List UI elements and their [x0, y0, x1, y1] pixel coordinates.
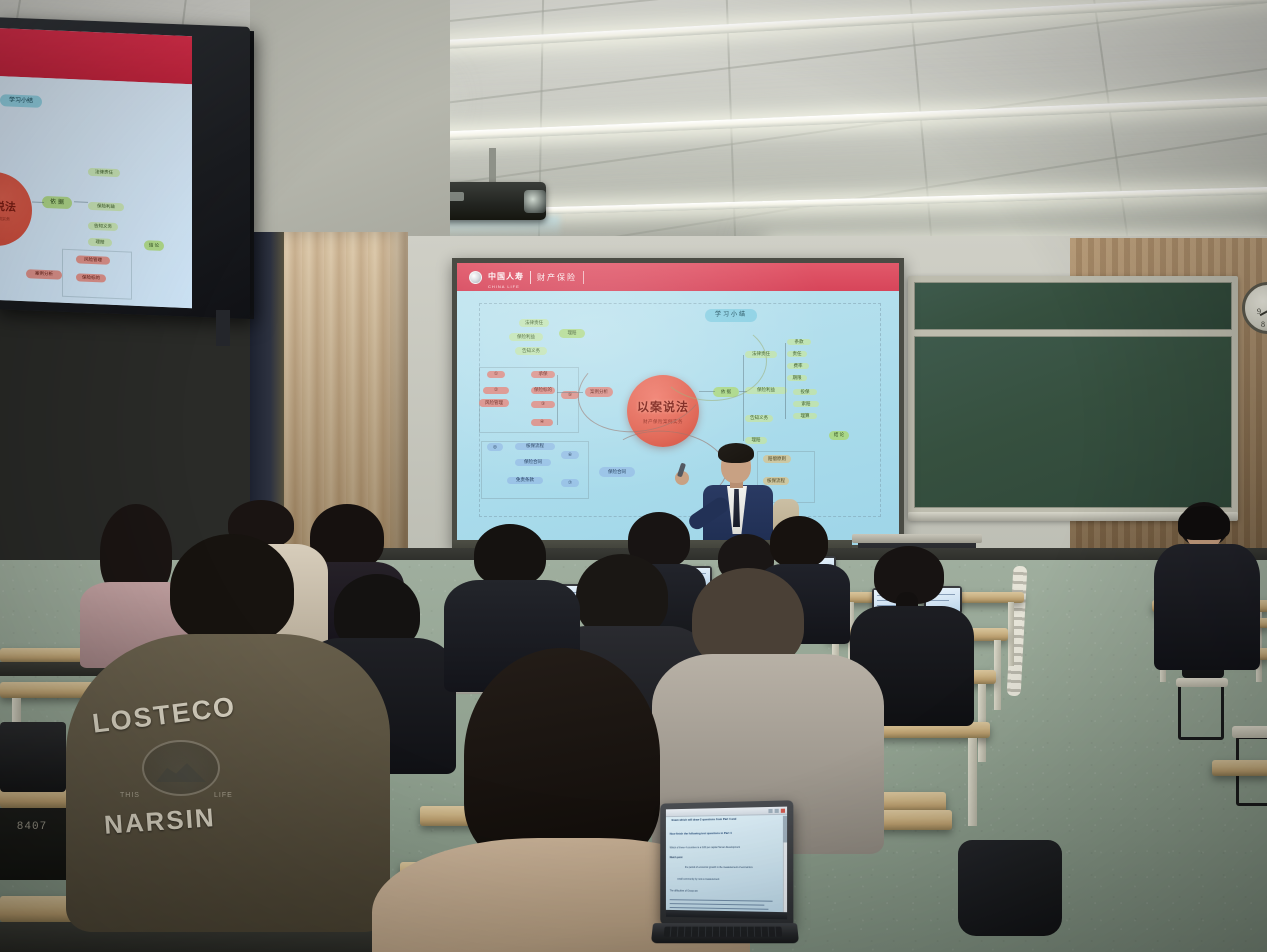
hair-back: [1178, 506, 1230, 540]
presenter-hair: [718, 443, 754, 463]
left-wall-upper: [250, 0, 450, 240]
branch-tag-17: ⑥: [561, 451, 579, 459]
branch-tag-8: 风险管理: [479, 399, 509, 407]
document-content[interactable]: Exam which will draw 2 questions from Pa…: [670, 817, 779, 909]
branch-tag-7: 保险标的: [531, 387, 555, 394]
close-icon[interactable]: [781, 809, 785, 813]
branch-leaf-1: 责任: [787, 351, 807, 357]
scrollbar-thumb[interactable]: [783, 816, 787, 843]
desk-leg: [968, 738, 977, 826]
doc-line-1: Match point: [670, 856, 683, 859]
chalkboard-main-panel: [914, 336, 1232, 508]
branch-tag-13: ◎: [487, 443, 503, 451]
branch-tag-3: 理赔: [559, 329, 585, 338]
jacket-mini-right: LIFE: [214, 792, 233, 799]
minimize-icon[interactable]: [768, 809, 772, 813]
logo-divider-2: [583, 271, 584, 284]
branch-leaf-6: 理算: [793, 413, 817, 419]
doc-line-0: Which of these 4 countries is a G20 per …: [670, 846, 740, 849]
doc-line-3: small community by now a measurement: [677, 878, 719, 881]
china-life-logo-icon: [469, 271, 482, 284]
doc-line-2: the period of economic growth in the mea…: [685, 866, 753, 869]
chair-seat[interactable]: [1176, 678, 1228, 687]
projection-screen[interactable]: 中国人寿 CHINA LIFE 财产保险 学习小结 法律责任 保险利益 告知义务…: [457, 263, 899, 545]
monitor-central-node: 说法 合同实务: [0, 170, 32, 247]
laptop-base[interactable]: [651, 923, 799, 943]
monitor-central-title: 说法: [0, 198, 16, 215]
branch-tag-0: 法律责任: [519, 319, 549, 327]
branch-leaf-2: 费率: [787, 363, 809, 369]
branch-tag-2: 告知义务: [515, 347, 547, 355]
branch-leaf-3: 期限: [787, 375, 807, 381]
chair[interactable]: [1178, 682, 1224, 740]
branch-tag-5: 承保: [531, 371, 555, 378]
monitor-central-sub: 合同实务: [0, 216, 10, 223]
window-titlebar[interactable]: [666, 807, 787, 818]
taskbar[interactable]: [666, 910, 787, 920]
branch-leaf-5: 索赔: [793, 401, 819, 407]
monitor-slide-header: [0, 28, 192, 84]
chair-back[interactable]: [0, 722, 66, 792]
branch-tag-6: ②: [483, 387, 509, 394]
branch-tag-14: 核保流程: [515, 443, 555, 450]
projector-mount-pole: [489, 148, 496, 182]
jacket-emblem: [142, 740, 220, 796]
brand-name-cn: 中国人寿: [488, 272, 524, 281]
branch-tag-10: ④: [531, 419, 553, 426]
slide-brand-header: 中国人寿 CHINA LIFE 财产保险: [457, 263, 899, 291]
maximize-icon[interactable]: [775, 809, 779, 813]
foreground-laptop[interactable]: Exam which will draw 2 questions from Pa…: [658, 802, 794, 952]
branch-tag-conclusion: 结 论: [829, 431, 849, 440]
branch-tag-22: 告知义务: [745, 415, 773, 422]
hair: [464, 648, 660, 864]
branch-tag-4: ①: [487, 371, 505, 378]
hair: [170, 534, 294, 644]
monitor-branch-yiju: 依 据: [42, 196, 72, 209]
doc-subheading: Now finish the following test questions …: [670, 832, 732, 836]
branch-tag-16: 免责条款: [507, 477, 543, 484]
desk-row-c-right: [1212, 760, 1267, 776]
hair: [474, 524, 546, 586]
monitor-section-tag: 学习小结: [0, 94, 42, 108]
monitor-slide-body: 学习小结 说法 合同实务 依 据 法律责任 保险利益 告知义务 理赔 结 论 案…: [0, 76, 192, 308]
branch-tag-1: 保险利益: [509, 333, 543, 341]
torso: [1154, 544, 1260, 670]
laptop-lid[interactable]: Exam which will draw 2 questions from Pa…: [660, 800, 793, 927]
branch-tag-18: ⑦: [561, 479, 579, 487]
clock-number-8: 8: [1261, 320, 1265, 329]
branch-leaf-0: 条款: [787, 339, 811, 345]
branch-leaf-4: 投保: [793, 389, 817, 395]
projector-lens: [524, 190, 546, 213]
monitor-post: [216, 310, 230, 346]
doc-line-4: The difficulties of Group are: [670, 889, 698, 892]
wall-monitor-screen[interactable]: 学习小结 说法 合同实务 依 据 法律责任 保险利益 告知义务 理赔 结 论 案…: [0, 28, 192, 308]
backpack: [958, 840, 1062, 936]
brand-name-en: CHINA LIFE: [488, 284, 524, 289]
chalkboard-upper-panel: [914, 282, 1232, 330]
branch-tag-9: ③: [531, 401, 555, 408]
monitor-branch-conclusion: 结 论: [144, 240, 164, 251]
torso-olive-jacket: [66, 634, 390, 932]
av-podium-top: [852, 534, 982, 543]
branch-tag-15: 保险合同: [515, 459, 551, 466]
laptop-screen[interactable]: Exam which will draw 2 questions from Pa…: [666, 807, 787, 920]
monitor-branch-2: 保险利益: [88, 202, 124, 212]
logo-divider: [530, 271, 531, 284]
monitor-branch-1: 法律责任: [88, 168, 120, 177]
monitor-branch-4: 理赔: [88, 238, 112, 247]
brand-subtitle: 财产保险: [537, 272, 577, 283]
jacket-mini-left: THIS: [120, 792, 140, 799]
slide-content-area: 学习小结 法律责任 保险利益 告知义务 理赔 ① 承保 ② 保险标的 风险管理 …: [457, 291, 899, 545]
hair: [770, 516, 828, 568]
monitor-branch-case: 案例分析: [26, 269, 62, 280]
monitor-branch-3: 告知义务: [88, 222, 118, 231]
desk-leg: [1008, 602, 1014, 666]
chair-seat[interactable]: [1232, 726, 1267, 738]
laptop-keyboard[interactable]: [664, 927, 783, 937]
classroom-scene: 10 9 8 学习小结 说法 合同实务 依 据 法律责任 保险利益 告知义务 理…: [0, 0, 1267, 952]
doc-heading: Exam which will draw 2 questions from Pa…: [672, 818, 737, 822]
equipment-label-plate: 8407: [6, 818, 58, 836]
